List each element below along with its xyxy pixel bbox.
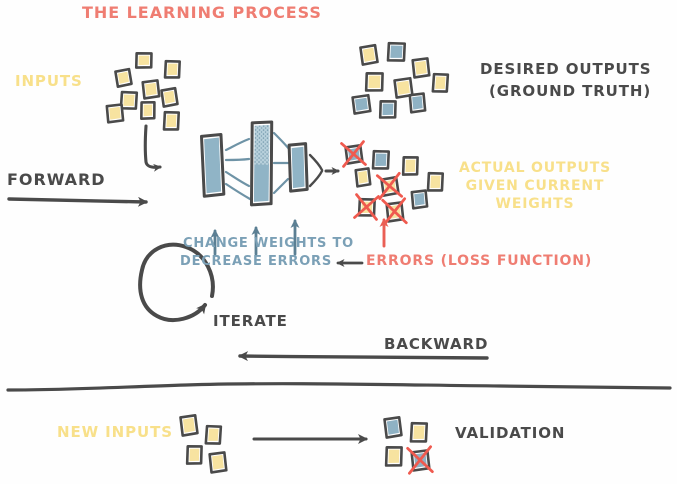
section-divider xyxy=(8,384,670,390)
data-card xyxy=(413,58,430,77)
validation-card-cluster xyxy=(384,417,432,473)
data-card xyxy=(205,425,221,445)
desired-outputs-card-cluster xyxy=(353,42,449,118)
errors-label: ERRORS (LOSS FUNCTION) xyxy=(366,253,592,270)
network-layer-3 xyxy=(289,144,307,191)
error-card xyxy=(383,199,407,224)
data-card xyxy=(403,156,419,175)
error-card xyxy=(355,195,379,220)
backward-arrow xyxy=(240,356,487,358)
data-card xyxy=(386,446,403,466)
desired-outputs-label-line2: (GROUND TRUTH) xyxy=(489,82,651,100)
data-card xyxy=(210,452,227,472)
backward-label: BACKWARD xyxy=(384,335,488,353)
data-card xyxy=(412,191,427,209)
diagram-canvas: THE LEARNING PROCESS INPUTS FORWARD DESI… xyxy=(0,0,677,484)
data-card xyxy=(141,102,155,120)
data-card xyxy=(353,95,371,113)
error-card xyxy=(377,173,401,198)
network-layer-2 xyxy=(249,121,272,205)
data-card xyxy=(187,445,203,464)
data-card xyxy=(384,417,401,437)
data-card xyxy=(164,60,180,78)
data-card xyxy=(432,73,448,93)
forward-label: FORWARD xyxy=(7,170,106,190)
error-card xyxy=(408,447,433,474)
data-card xyxy=(427,172,443,191)
data-card xyxy=(163,111,179,130)
data-card xyxy=(366,72,384,91)
inputs-label: INPUTS xyxy=(15,72,83,90)
data-card xyxy=(360,45,377,65)
data-card xyxy=(372,150,389,169)
data-card xyxy=(107,104,123,122)
inputs-to-network-hook-arrow xyxy=(145,126,160,167)
data-card xyxy=(115,69,131,87)
data-card xyxy=(161,88,177,107)
desired-outputs-label-line1: DESIRED OUTPUTS xyxy=(480,60,651,78)
network-layer-stack xyxy=(201,121,307,205)
change-weights-label-line2: DECREASE ERRORS xyxy=(180,254,332,270)
error-card xyxy=(342,142,366,167)
diagram-title: THE LEARNING PROCESS xyxy=(82,3,310,23)
new-inputs-label: NEW INPUTS xyxy=(57,423,173,441)
actual-outputs-label-line1: ACTUAL OUTPUTS xyxy=(455,160,615,177)
new-inputs-card-cluster xyxy=(180,415,226,472)
change-weights-label-line1: CHANGE WEIGHTS TO xyxy=(183,236,354,252)
data-card xyxy=(136,52,153,68)
network-output-arrow xyxy=(310,155,338,186)
validation-label: VALIDATION xyxy=(455,424,565,442)
iterate-label: ITERATE xyxy=(213,312,288,330)
forward-arrow xyxy=(9,199,146,202)
actual-outputs-label-line3: WEIGHTS xyxy=(455,196,615,213)
network-layer-1 xyxy=(201,134,223,196)
inputs-card-cluster xyxy=(107,52,181,130)
actual-outputs-label-line2: GIVEN CURRENT xyxy=(455,178,615,195)
data-card xyxy=(380,100,397,118)
data-card xyxy=(410,94,425,113)
data-card xyxy=(387,42,405,61)
actual-outputs-card-cluster xyxy=(342,142,444,225)
data-card xyxy=(356,168,371,186)
data-card xyxy=(143,80,160,98)
data-card xyxy=(410,422,427,442)
data-card xyxy=(180,415,197,435)
